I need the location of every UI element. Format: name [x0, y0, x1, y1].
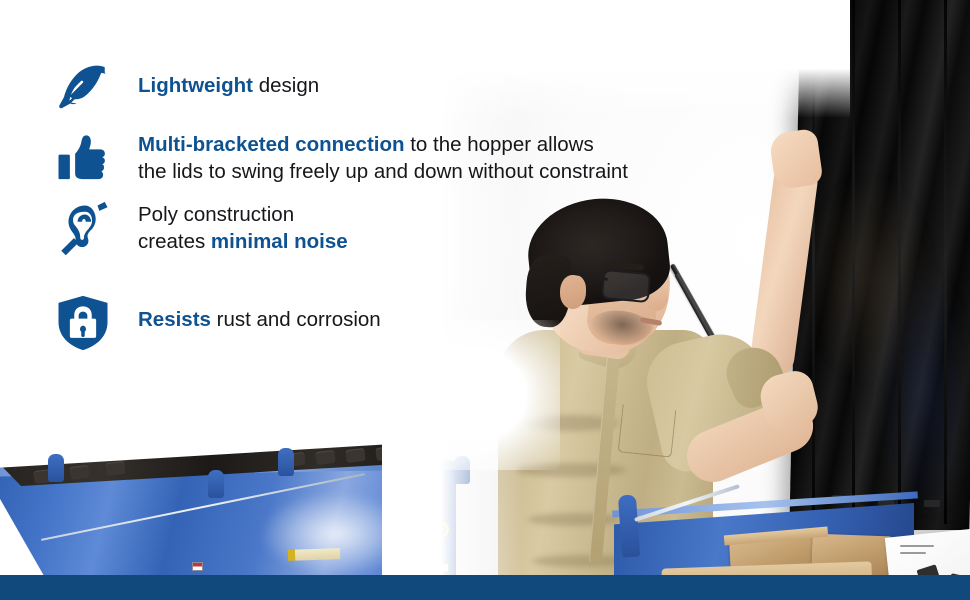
feature-rest-resists: rust and corrosion: [211, 308, 381, 331]
feature-item-lightweight: Lightweight design: [52, 58, 319, 120]
feature-line2-prefix-polyconstruction: creates: [138, 230, 211, 253]
feature-line2-multibracketed: the lids to swing freely up and down wit…: [138, 160, 628, 183]
ear: [560, 275, 586, 309]
lid-rib: [944, 0, 947, 524]
feature-item-polyconstruction: Poly construction creates minimal noise: [52, 198, 348, 260]
feature-item-multibracketed: Multi-bracketed connection to the hopper…: [52, 128, 628, 190]
feature-rest-multibracketed: to the hopper allows: [405, 133, 594, 156]
feature-text-resists-rust: Resists rust and corrosion: [138, 292, 381, 333]
ear-hearing-icon: [52, 198, 114, 260]
feature-text-lightweight: Lightweight design: [138, 58, 319, 99]
feature-text-multibracketed: Multi-bracketed connection to the hopper…: [138, 128, 628, 185]
feature-bold-minimalnoise: minimal noise: [211, 230, 348, 253]
product-feature-banner: HD Lightweight design: [0, 0, 970, 600]
feature-rest-lightweight: design: [253, 74, 319, 97]
feature-bold-lightweight: Lightweight: [138, 74, 253, 97]
lid-rib: [852, 0, 855, 520]
feather-icon: [52, 58, 114, 120]
feature-list: Lightweight design Multi-bracketed conne…: [0, 0, 430, 600]
shirt-pocket: [618, 404, 677, 457]
bottom-accent-bar: [0, 575, 970, 600]
rear-hopper-bracket: [618, 494, 640, 557]
lid-rib: [898, 0, 901, 522]
thumbs-up-icon: [52, 128, 114, 190]
feature-text-polyconstruction: Poly construction creates minimal noise: [138, 198, 348, 255]
raised-hand: [768, 128, 823, 190]
paper-graphic: [900, 545, 934, 547]
feature-bold-multibracketed: Multi-bracketed connection: [138, 133, 405, 156]
paper-graphic: [900, 552, 926, 554]
lid-bracket: [454, 456, 470, 484]
feature-item-resists-rust: Resists rust and corrosion: [52, 292, 381, 354]
feature-line1-polyconstruction: Poly construction: [138, 203, 294, 226]
shield-lock-icon: [52, 292, 114, 354]
feature-bold-resists: Resists: [138, 308, 211, 331]
eyeglasses-lens: [601, 269, 651, 303]
